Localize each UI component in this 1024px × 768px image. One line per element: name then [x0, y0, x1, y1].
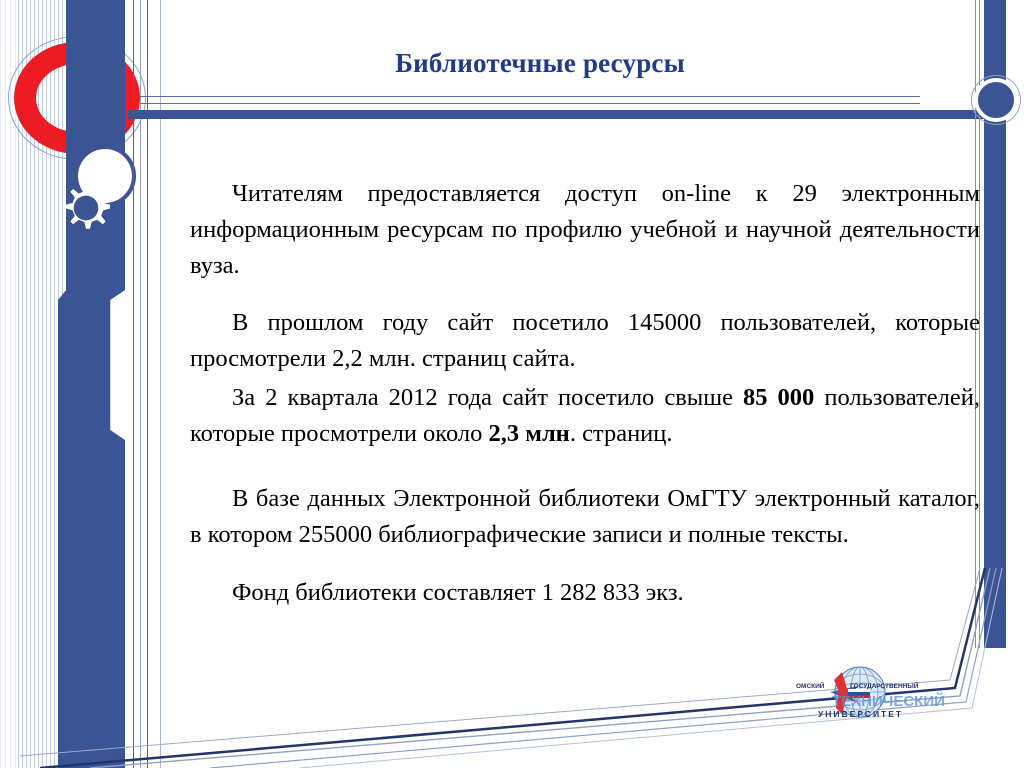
logo-text-line1: ОМСКИЙ	[796, 681, 825, 690]
logo-text-line3: ТЕХНИЧЕСКИЙ	[832, 692, 945, 710]
paragraph-3-bold-visitors: 85 000	[743, 384, 814, 411]
header-rule-thin-2	[140, 103, 920, 104]
gear-icon	[58, 180, 114, 236]
spacer-1	[190, 283, 980, 305]
presentation-slide: Библиотечные ресурсы Читателям предостав…	[0, 0, 1024, 768]
logo-text-line4: УНИВЕРСИТЕТ	[818, 709, 903, 719]
right-dot-decor	[974, 78, 1018, 122]
blue-vertical-bar	[58, 0, 125, 768]
page-title: Библиотечные ресурсы	[160, 48, 920, 79]
omgtu-logo: ОМСКИЙ ГОСУДАРСТВЕННЫЙ ТЕХНИЧЕСКИЙ УНИВЕ…	[782, 662, 972, 732]
paragraph-1: Читателям предоставляется доступ on-line…	[190, 176, 980, 283]
paragraph-3-part-a: За 2 квартала 2012 года сайт посетило св…	[232, 384, 743, 411]
slide-body: Читателям предоставляется доступ on-line…	[190, 176, 980, 611]
logo-text-line2: ГОСУДАРСТВЕННЫЙ	[850, 681, 919, 690]
header-rule-thin-1	[140, 96, 920, 97]
header-rule-thick	[128, 110, 996, 119]
paragraph-3-bold-pages: 2,3 млн	[489, 420, 570, 447]
paragraph-2: В прошлом году сайт посетило 145000 поль…	[190, 305, 980, 377]
paragraph-3-part-c: . страниц.	[570, 420, 673, 447]
spacer-3	[190, 451, 980, 481]
paragraph-5: Фонд библиотеки составляет 1 282 833 экз…	[190, 575, 980, 611]
paragraph-3: За 2 квартала 2012 года сайт посетило св…	[190, 380, 980, 452]
spacer-4	[190, 553, 980, 575]
paragraph-4: В базе данных Электронной библиотеки ОмГ…	[190, 481, 980, 553]
